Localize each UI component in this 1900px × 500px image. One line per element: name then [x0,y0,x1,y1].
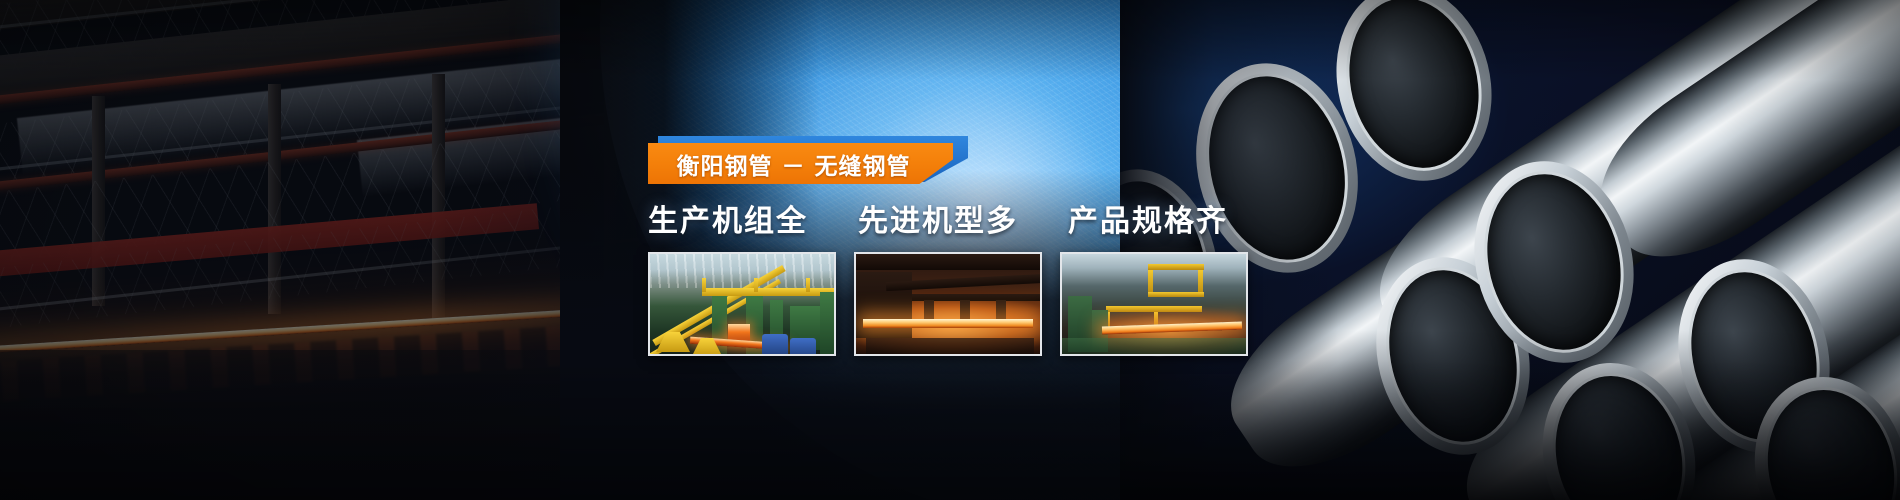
badge-orange-plate: 衡阳钢管 － 无缝钢管 [648,143,953,184]
thumbnail-factory-line[interactable] [1060,252,1248,356]
banner-root: 衡阳钢管 － 无缝钢管 生产机组全 先进机型多 产品规格齐 [0,0,1900,500]
badge-label: 衡阳钢管 － 无缝钢管 [676,147,924,181]
thumbnail-rolling-mill[interactable] [648,252,836,356]
headline-item-3: 产品规格齐 [1068,196,1228,240]
thumbnail-hot-billet[interactable] [854,252,1042,356]
thumbnail-strip [648,252,1248,356]
brand-badge[interactable]: 衡阳钢管 － 无缝钢管 [648,136,968,184]
headline-group: 生产机组全 先进机型多 产品规格齐 [648,196,1348,240]
hot-billet-photo [856,254,1040,354]
headline-item-1: 生产机组全 [648,196,808,240]
content-layer: 衡阳钢管 － 无缝钢管 生产机组全 先进机型多 产品规格齐 [0,0,1900,500]
headline-item-2: 先进机型多 [858,196,1018,240]
rolling-mill-photo [650,254,834,354]
factory-line-photo [1062,254,1246,354]
